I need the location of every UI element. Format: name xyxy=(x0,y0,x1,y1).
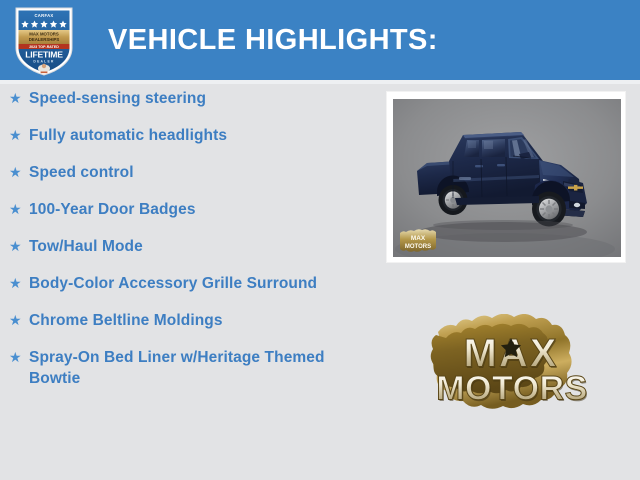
svg-text:DEALERSHIPS: DEALERSHIPS xyxy=(29,37,60,42)
list-item: ★ Speed control xyxy=(0,162,374,183)
list-item-label: Chrome Beltline Moldings xyxy=(29,310,366,331)
max-motors-watermark-icon: MAX MOTORS xyxy=(397,228,439,254)
list-item: ★ Tow/Haul Mode xyxy=(0,236,374,257)
list-item-label: Fully automatic headlights xyxy=(29,125,366,146)
list-item: ★ Body-Color Accessory Grille Surround xyxy=(0,273,374,294)
list-item-label: Tow/Haul Mode xyxy=(29,236,366,257)
star-icon: ★ xyxy=(9,273,29,294)
vehicle-photo: MAX MOTORS xyxy=(393,99,621,257)
star-icon: ★ xyxy=(9,162,29,183)
svg-text:MAX MOTORS: MAX MOTORS xyxy=(29,31,59,36)
header-divider xyxy=(0,80,640,84)
carfax-badge-icon: CARFAX MAX MOTORS DEALERSHIPS 2023 TOP-R… xyxy=(12,4,76,78)
star-icon: ★ xyxy=(9,236,29,257)
photo-watermark: MAX MOTORS xyxy=(397,228,439,254)
list-item-label: Speed-sensing steering xyxy=(29,88,366,109)
star-icon: ★ xyxy=(9,310,29,331)
star-icon: ★ xyxy=(9,125,29,146)
vehicle-highlights-list: ★ Speed-sensing steering ★ Fully automat… xyxy=(0,88,374,405)
list-item-label: 100-Year Door Badges xyxy=(29,199,366,220)
list-item: ★ 100-Year Door Badges xyxy=(0,199,374,220)
list-item-label: Speed control xyxy=(29,162,366,183)
svg-text:2023 TOP-RATED: 2023 TOP-RATED xyxy=(29,45,59,49)
star-icon: ★ xyxy=(9,199,29,220)
svg-text:LIFETIME: LIFETIME xyxy=(25,50,63,60)
vehicle-photo-frame: MAX MOTORS xyxy=(386,91,626,263)
list-item: ★ Spray-On Bed Liner w/Heritage Themed B… xyxy=(0,347,374,389)
list-item-label: Body-Color Accessory Grille Surround xyxy=(29,273,366,294)
max-motors-logo-icon: MAX MAX MOTORS MOTORS xyxy=(424,314,602,422)
svg-text:CARFAX: CARFAX xyxy=(34,13,53,18)
vehicle-highlights-slide: CARFAX MAX MOTORS DEALERSHIPS 2023 TOP-R… xyxy=(0,0,640,480)
carfax-top-rated-dealer-badge: CARFAX MAX MOTORS DEALERSHIPS 2023 TOP-R… xyxy=(12,4,76,78)
svg-text:MAX: MAX xyxy=(411,235,426,242)
svg-text:MOTORS: MOTORS xyxy=(405,244,431,250)
max-motors-logo: MAX MAX MOTORS MOTORS xyxy=(424,314,602,422)
star-icon: ★ xyxy=(9,88,29,109)
list-item: ★ Fully automatic headlights xyxy=(0,125,374,146)
svg-text:DEALER: DEALER xyxy=(33,60,54,64)
star-icon: ★ xyxy=(9,347,29,368)
svg-text:MOTORS: MOTORS xyxy=(436,370,588,408)
list-item: ★ Chrome Beltline Moldings xyxy=(0,310,374,331)
list-item: ★ Speed-sensing steering xyxy=(0,88,374,109)
page-title: VEHICLE HIGHLIGHTS: xyxy=(108,24,438,57)
list-item-label: Spray-On Bed Liner w/Heritage Themed Bow… xyxy=(29,347,366,389)
